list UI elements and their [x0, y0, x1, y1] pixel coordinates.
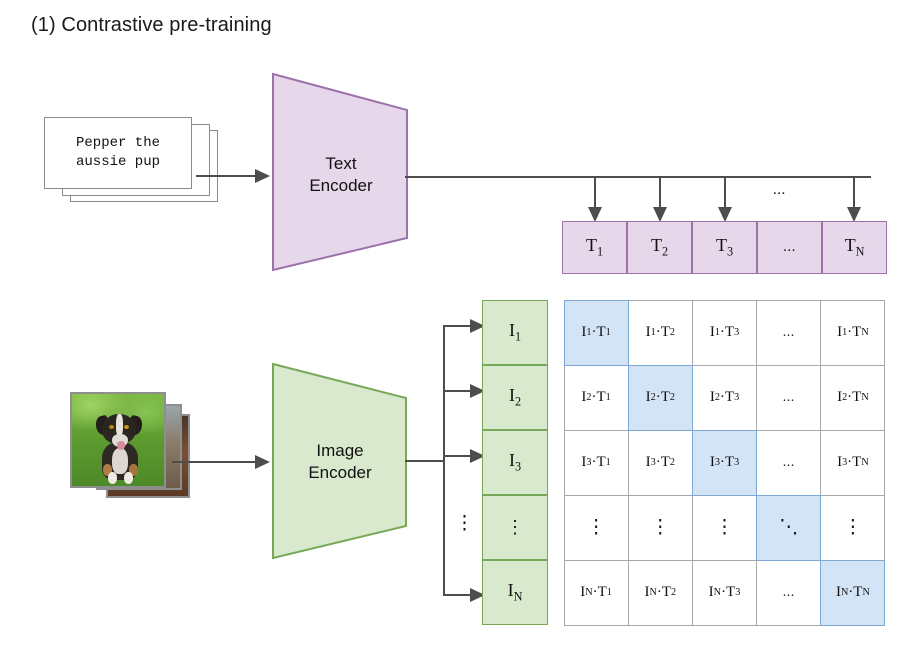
dog-chest — [112, 448, 128, 474]
image-embedding-cell-2[interactable]: I2 — [482, 365, 548, 430]
matrix-cell-r3-c2[interactable]: I3·T2 — [628, 430, 693, 496]
image-embedding-label-3: I3 — [509, 450, 521, 475]
matrix-cell-r3-c4[interactable]: ... — [756, 430, 821, 496]
matrix-cell-r5-c1[interactable]: IN·T1 — [564, 560, 629, 626]
text-card-label: Pepper the aussie pup — [76, 134, 160, 172]
text-line-2: aussie pup — [76, 154, 160, 170]
image-embedding-cell-3[interactable]: I3 — [482, 430, 548, 495]
matrix-cell-r3-c5[interactable]: I3·TN — [820, 430, 885, 496]
dog-paw-left — [108, 472, 117, 484]
matrix-cell-r3-c1[interactable]: I3·T1 — [564, 430, 629, 496]
page-title: (1) Contrastive pre-training — [31, 14, 272, 37]
text-card-front: Pepper the aussie pup — [44, 117, 192, 189]
dog-eye-right — [124, 425, 129, 429]
text-embedding-label-n: TN — [845, 235, 865, 260]
image-embedding-label-2: I2 — [509, 385, 521, 410]
dog-face-blaze — [116, 414, 123, 435]
text-embedding-cell-3[interactable]: T3 — [692, 221, 757, 274]
image-bus-vertical — [443, 325, 445, 596]
text-embedding-label-2: T2 — [651, 235, 668, 260]
matrix-cell-r5-c2[interactable]: IN·T2 — [628, 560, 693, 626]
image-bus-horizontal — [405, 460, 445, 462]
matrix-cell-r4-c1[interactable]: ⋮ — [564, 495, 629, 561]
diagram-canvas: (1) Contrastive pre-training Pepper the … — [0, 0, 906, 654]
text-embedding-cell-2[interactable]: T2 — [627, 221, 692, 274]
matrix-cell-r4-c5[interactable]: ⋮ — [820, 495, 885, 561]
dog-eye-left — [109, 425, 114, 429]
text-bus-horizontal — [405, 176, 871, 178]
image-branch-ellipsis: ⋮ — [455, 512, 474, 535]
matrix-cell-r4-c2[interactable]: ⋮ — [628, 495, 693, 561]
text-embedding-cell-ellipsis: ... — [757, 221, 822, 274]
image-encoder-label-line1: Image — [270, 440, 410, 462]
image-embedding-label-n: IN — [508, 580, 523, 605]
dog-paw-right — [124, 472, 133, 484]
matrix-cell-r4-c4[interactable]: ⋱ — [756, 495, 821, 561]
matrix-cell-r3-c3[interactable]: I3·T3 — [692, 430, 757, 496]
matrix-cell-r1-c2[interactable]: I1·T2 — [628, 300, 693, 366]
text-embedding-label-3: T3 — [716, 235, 733, 260]
text-branch-v-2 — [659, 176, 661, 210]
matrix-cell-r1-c4[interactable]: ... — [756, 300, 821, 366]
text-encoder[interactable]: Text Encoder — [270, 70, 412, 274]
matrix-cell-r5-c4[interactable]: ... — [756, 560, 821, 626]
text-embedding-cell-n[interactable]: TN — [822, 221, 887, 274]
text-embedding-label-1: T1 — [586, 235, 603, 260]
image-embedding-cell-n[interactable]: IN — [482, 560, 548, 625]
image-card-front — [70, 392, 166, 488]
image-embedding-cell-ellipsis: ⋮ — [482, 495, 548, 560]
text-encoder-label-line1: Text — [270, 153, 412, 175]
dog-tongue — [117, 441, 125, 450]
text-encoder-label-line2: Encoder — [270, 175, 412, 197]
similarity-matrix: I1·T1I1·T2I1·T3...I1·TNI2·T1I2·T2I2·T3..… — [564, 300, 885, 625]
matrix-cell-r1-c5[interactable]: I1·TN — [820, 300, 885, 366]
arrow-text-to-encoder-line — [196, 175, 262, 177]
matrix-cell-r5-c5[interactable]: IN·TN — [820, 560, 885, 626]
matrix-cell-r2-c5[interactable]: I2·TN — [820, 365, 885, 431]
text-line-1: Pepper the — [76, 135, 160, 151]
text-branch-v-n — [853, 176, 855, 210]
matrix-cell-r2-c1[interactable]: I2·T1 — [564, 365, 629, 431]
matrix-cell-r1-c3[interactable]: I1·T3 — [692, 300, 757, 366]
text-branch-v-1 — [594, 176, 596, 210]
text-branch-v-3 — [724, 176, 726, 210]
matrix-cell-r2-c4[interactable]: ... — [756, 365, 821, 431]
matrix-cell-r2-c3[interactable]: I2·T3 — [692, 365, 757, 431]
matrix-cell-r1-c1[interactable]: I1·T1 — [564, 300, 629, 366]
text-embedding-cell-1[interactable]: T1 — [562, 221, 627, 274]
image-encoder[interactable]: Image Encoder — [270, 360, 410, 562]
image-embedding-label-1: I1 — [509, 320, 521, 345]
text-branch-ellipsis: ... — [773, 182, 786, 199]
matrix-cell-r5-c3[interactable]: IN·T3 — [692, 560, 757, 626]
image-embedding-cell-1[interactable]: I1 — [482, 300, 548, 365]
matrix-cell-r2-c2[interactable]: I2·T2 — [628, 365, 693, 431]
image-encoder-label-line2: Encoder — [270, 462, 410, 484]
arrow-image-to-encoder-line — [172, 461, 262, 463]
matrix-cell-r4-c3[interactable]: ⋮ — [692, 495, 757, 561]
